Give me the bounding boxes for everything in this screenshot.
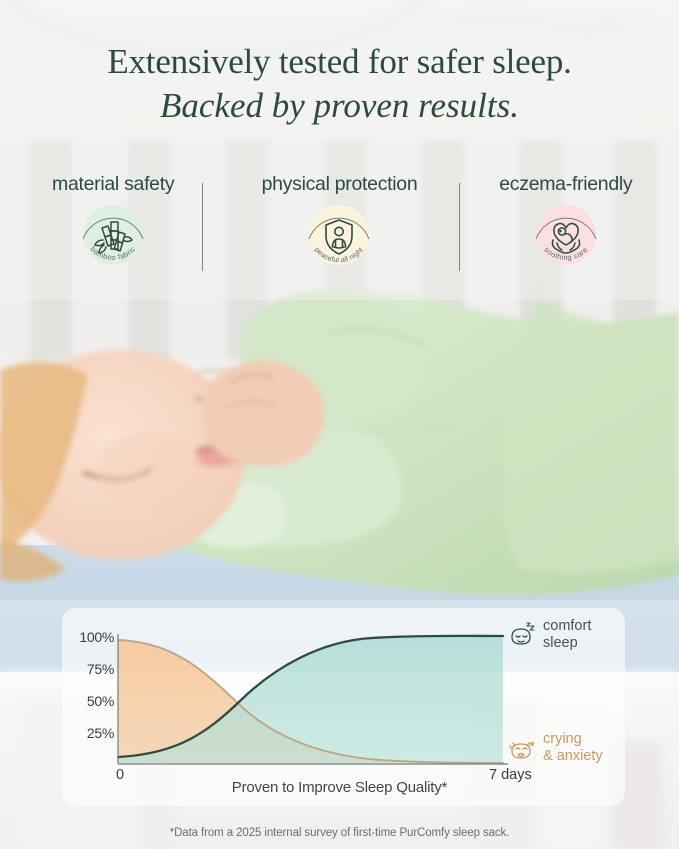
legend-line-1: crying [543, 731, 603, 748]
shield-baby-icon [319, 216, 359, 256]
y-tick-50: 50% [70, 693, 114, 709]
chart-title: Proven to Improve Sleep Quality* [0, 779, 679, 796]
y-tick-25: 25% [70, 725, 114, 741]
legend-crying-anxiety: crying & anxiety [508, 731, 603, 765]
y-tick-100: 100% [70, 629, 114, 645]
feature-badges: material safety bamboo fabric [0, 172, 679, 282]
badge-shield: peaceful all night [300, 198, 378, 276]
badge-bamboo: bamboo fabric [74, 198, 152, 276]
headline-line-1: Extensively tested for safer sleep. [0, 40, 679, 84]
feature-label: eczema-friendly [499, 172, 632, 196]
legend-crying-text: crying & anxiety [543, 731, 603, 765]
feature-material-safety[interactable]: material safety bamboo fabric [0, 172, 226, 282]
y-tick-75: 75% [70, 661, 114, 677]
headline-line-2: Backed by proven results. [0, 84, 679, 128]
feature-label: material safety [52, 172, 174, 196]
feature-eczema-friendly[interactable]: eczema-friendly soothing care [453, 172, 679, 282]
legend-line-1: comfort [543, 618, 591, 635]
feature-label: physical protection [262, 172, 418, 196]
legend-comfort-text: comfort sleep [543, 618, 591, 652]
legend-line-2: sleep [543, 635, 591, 652]
badge-soothing: soothing care [527, 198, 605, 276]
heart-hands-baby-icon [546, 216, 586, 256]
badge-divider-1 [202, 183, 203, 271]
feature-physical-protection[interactable]: physical protection peaceful all night [226, 172, 452, 282]
legend-line-2: & anxiety [543, 748, 603, 765]
badge-divider-2 [459, 183, 460, 271]
page-headline: Extensively tested for safer sleep. Back… [0, 40, 679, 128]
sleeping-baby-icon [508, 622, 538, 648]
footnote: *Data from a 2025 internal survey of fir… [0, 827, 679, 839]
legend-comfort-sleep: comfort sleep [508, 618, 591, 652]
crying-baby-icon [508, 735, 538, 761]
bamboo-icon [93, 216, 133, 256]
